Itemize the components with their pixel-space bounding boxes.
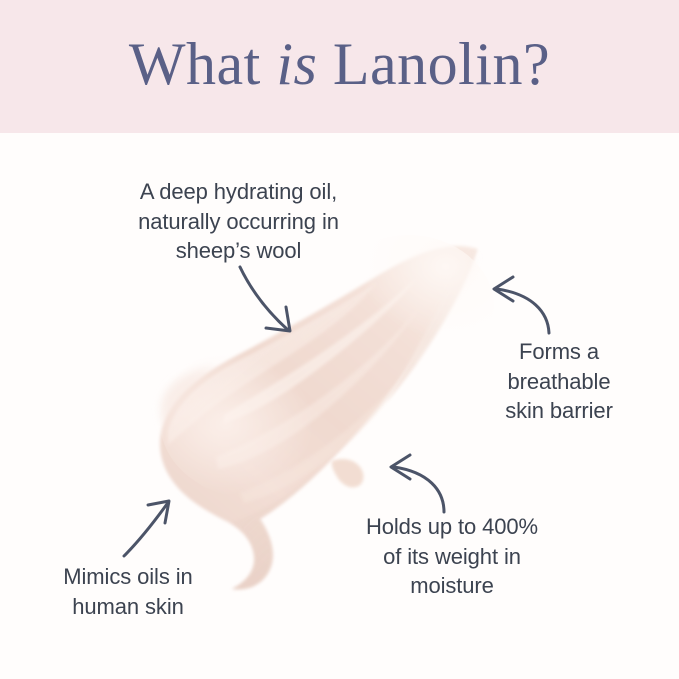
page-title-emphasis: is [276, 32, 317, 96]
page-title: What is Lanolin? [0, 0, 679, 133]
page-title-suffix: Lanolin? [317, 32, 550, 96]
callout-moisture: Holds up to 400% of its weight in moistu… [332, 512, 572, 601]
callout-skin-barrier: Forms a breathable skin barrier [483, 337, 635, 426]
lanolin-infographic: What is Lanolin? [0, 0, 679, 679]
callout-mimics-oils: Mimics oils in human skin [38, 562, 218, 621]
cream-glow-mid [160, 343, 352, 499]
callout-hydrating-oil: A deep hydrating oil, naturally occurrin… [96, 177, 381, 266]
page-title-prefix: What [129, 32, 276, 96]
